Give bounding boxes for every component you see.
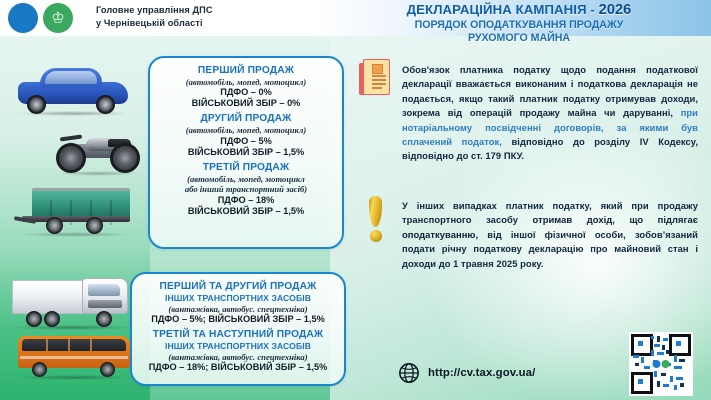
trailer-cargo-box xyxy=(32,188,130,219)
rate-group-scope: (автомобіль, мопед, мотоцикл) xyxy=(156,77,336,87)
truck-wheel xyxy=(26,311,42,327)
truck-wheel xyxy=(96,311,112,327)
motorcycle-handlebar xyxy=(60,134,82,141)
qr-code-image[interactable] xyxy=(629,332,693,396)
rate-group-second-sale: ДРУГИЙ ПРОДАЖ (автомобіль, мопед, мотоци… xyxy=(156,113,336,157)
qr-canvas xyxy=(630,333,692,395)
infographic-poster: ♔ Головне управління ДПС у Чернівецькій … xyxy=(0,0,711,400)
campaign-title-text: ДЕКЛАРАЦІЙНА КАМПАНІЯ - xyxy=(407,2,599,17)
campaign-subtitle-line1: ПОРЯДОК ОПОДАТКУВАННЯ ПРОДАЖУ xyxy=(339,19,699,32)
bus-window-divider xyxy=(46,339,48,351)
truck-trailer xyxy=(12,280,86,314)
exclamation-dot xyxy=(370,230,382,242)
campaign-subtitle-line2: РУХОМОГО МАЙНА xyxy=(339,32,699,45)
bus-stripe xyxy=(20,356,128,359)
rate-group-third-next-sale-other: ТРЕТІЙ ТА НАСТУПНИЙ ПРОДАЖ ІНШИХ ТРАНСПО… xyxy=(138,329,338,373)
trailer-wheel xyxy=(86,217,103,234)
truck-windshield xyxy=(88,284,120,296)
document-text-line xyxy=(372,79,386,81)
motorcycle-image xyxy=(52,128,144,176)
motorcycle-wheel-rear xyxy=(110,143,140,173)
organization-name: Головне управління ДПС у Чернівецькій об… xyxy=(96,4,213,29)
campaign-title: ДЕКЛАРАЦІЙНА КАМПАНІЯ - 2026 xyxy=(339,2,699,18)
rate-group-subtitle: ІНШИХ ТРАНСПОРТНИХ ЗАСОБІВ xyxy=(138,341,338,352)
exclamation-bar xyxy=(369,196,382,227)
blue-circle-logo-icon xyxy=(8,3,38,33)
rate-group-title: ПЕРШИЙ ПРОДАЖ xyxy=(156,65,336,77)
trailer-image xyxy=(14,182,136,238)
rate-military: ВІЙСЬКОВИЙ ЗБІР – 1,5% xyxy=(156,206,336,217)
bus-image xyxy=(16,332,134,380)
bus-windows xyxy=(22,339,126,351)
motorcycle-wheel-front xyxy=(56,143,86,173)
car-windshield xyxy=(45,71,97,84)
trailer-chassis xyxy=(22,216,130,222)
paragraph-declaration-obligation: Обов'язок платника податку щодо подання … xyxy=(402,63,698,164)
car-wheel-rear xyxy=(96,95,115,114)
car-image xyxy=(14,62,132,116)
document-stamp xyxy=(372,64,383,74)
bus-window-divider xyxy=(90,339,92,351)
bus-wheel xyxy=(32,362,47,377)
rate-group-scope: (вантажівка, автобус. спецтехніка) xyxy=(138,352,338,362)
qr-logo-green-dot xyxy=(662,360,670,368)
truck-grill xyxy=(88,300,122,308)
document-text-line xyxy=(372,87,382,89)
car-wheel-front xyxy=(27,95,46,114)
campaign-year: 2026 xyxy=(599,2,632,18)
rate-group-third-sale: ТРЕТІЙ ПРОДАЖ (автомобіль, мопед, мотоци… xyxy=(156,162,336,217)
exclamation-mark-icon xyxy=(366,196,386,242)
document-front-sheet xyxy=(363,59,390,95)
campaign-title-block: ДЕКЛАРАЦІЙНА КАМПАНІЯ - 2026 ПОРЯДОК ОПО… xyxy=(339,2,699,44)
document-text-line xyxy=(372,83,386,85)
rate-combined: ПДФО – 5%; ВІЙСЬКОВИЙ ЗБІР – 1,5% xyxy=(138,314,338,325)
bus-wheel xyxy=(100,362,115,377)
rate-military: ВІЙСЬКОВИЙ ЗБІР – 1,5% xyxy=(156,147,336,158)
paragraph-other-cases: У інших випадках платник податку, який п… xyxy=(402,199,698,271)
rate-group-scope: (вантажівка, автобус. спецтехніка) xyxy=(138,304,338,314)
campaign-subtitle: ПОРЯДОК ОПОДАТКУВАННЯ ПРОДАЖУ РУХОМОГО М… xyxy=(339,19,699,44)
qr-logo-blue-dot xyxy=(653,360,661,368)
document-text-line xyxy=(372,75,386,77)
truck-image xyxy=(10,276,136,330)
rate-group-title: ТРЕТІЙ ПРОДАЖ xyxy=(156,162,336,174)
rate-group-scope: (автомобіль, мопед, мотоцикл) xyxy=(156,125,336,135)
rate-group-first-second-sale-other: ПЕРШИЙ ТА ДРУГИЙ ПРОДАЖ ІНШИХ ТРАНСПОРТН… xyxy=(138,281,338,325)
rate-military: ВІЙСЬКОВИЙ ЗБІР – 0% xyxy=(156,98,336,109)
qr-finder-top-right xyxy=(669,334,691,356)
rate-group-title: ДРУГИЙ ПРОДАЖ xyxy=(156,113,336,125)
rate-pdfo: ПДФО – 18% xyxy=(156,195,336,206)
globe-icon xyxy=(398,362,420,384)
website-url[interactable]: http://cv.tax.gov.ua/ xyxy=(428,367,535,379)
paragraph-1-part1: Обов'язок платника податку щодо подання … xyxy=(402,64,698,118)
rate-pdfo: ПДФО – 5% xyxy=(156,136,336,147)
rate-group-title: ТРЕТІЙ ТА НАСТУПНИЙ ПРОДАЖ xyxy=(138,329,338,341)
motor-vehicles-rates-box: ПЕРШИЙ ПРОДАЖ (автомобіль, мопед, мотоци… xyxy=(148,56,344,249)
rate-group-scope-line2: або інший транспортний засіб) xyxy=(156,184,336,194)
rate-group-scope: (автомобіль, мопед, мотоцикл xyxy=(156,174,336,184)
qr-finder-bottom-left xyxy=(631,372,653,394)
header-logos: ♔ xyxy=(8,3,73,33)
qr-finder-top-left xyxy=(631,334,653,356)
rate-group-title: ПЕРШИЙ ТА ДРУГИЙ ПРОДАЖ xyxy=(138,281,338,293)
qr-center-logo xyxy=(653,360,670,368)
trident-glyph: ♔ xyxy=(51,11,64,26)
truck-wheel xyxy=(44,311,60,327)
rate-group-subtitle: ІНШИХ ТРАНСПОРТНИХ ЗАСОБІВ xyxy=(138,293,338,304)
trailer-wheel xyxy=(46,217,63,234)
trident-emblem-icon: ♔ xyxy=(43,3,73,33)
rate-pdfo: ПДФО – 0% xyxy=(156,87,336,98)
other-transport-rates-box: ПЕРШИЙ ТА ДРУГИЙ ПРОДАЖ ІНШИХ ТРАНСПОРТН… xyxy=(130,272,346,386)
declaration-document-icon xyxy=(359,59,391,99)
footer-website[interactable]: http://cv.tax.gov.ua/ xyxy=(398,362,535,384)
trailer-shadow xyxy=(18,232,132,237)
rate-combined: ПДФО – 18%; ВІЙСЬКОВИЙ ЗБІР – 1,5% xyxy=(138,362,338,373)
header-bar: ♔ Головне управління ДПС у Чернівецькій … xyxy=(0,0,711,36)
rate-group-first-sale: ПЕРШИЙ ПРОДАЖ (автомобіль, мопед, мотоци… xyxy=(156,65,336,109)
bus-window-divider xyxy=(68,339,70,351)
